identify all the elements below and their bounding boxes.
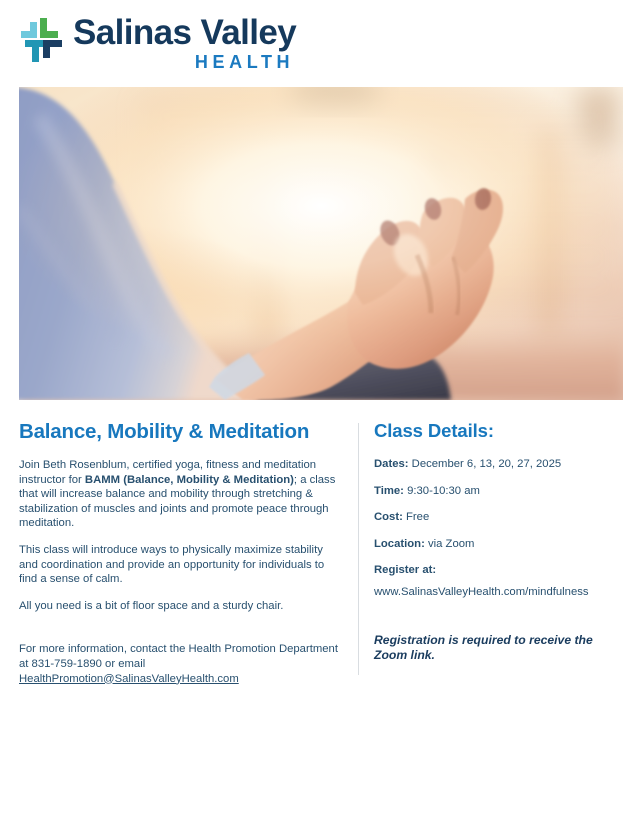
detail-value-dates: December 6, 13, 20, 27, 2025 — [409, 458, 562, 470]
detail-value-time: 9:30-10:30 am — [404, 485, 480, 497]
brand-logo: Salinas Valley HEALTH — [19, 14, 296, 72]
detail-label-register: Register at: — [374, 564, 436, 576]
right-column: Class Details: Dates: December 6, 13, 20… — [374, 420, 624, 663]
detail-row-time: Time: 9:30-10:30 am — [374, 484, 624, 499]
detail-row-dates: Dates: December 6, 13, 20, 27, 2025 — [374, 457, 624, 472]
contact-line-2: at 831-759-1890 or email — [19, 657, 344, 672]
class-details-title: Class Details: — [374, 420, 624, 442]
brand-wordmark: Salinas Valley — [73, 14, 296, 51]
detail-value-location: via Zoom — [425, 538, 475, 550]
detail-label-dates: Dates: — [374, 458, 409, 470]
hero-image — [19, 87, 623, 400]
detail-label-location: Location: — [374, 538, 425, 550]
register-url[interactable]: www.SalinasValleyHealth.com/mindfulness — [374, 585, 624, 600]
salinas-valley-health-cross-logo-icon — [19, 18, 65, 66]
requirements-paragraph: All you need is a bit of floor space and… — [19, 599, 344, 614]
detail-row-cost: Cost: Free — [374, 510, 624, 525]
brand-sub-wordmark: HEALTH — [195, 52, 294, 72]
column-divider — [358, 423, 359, 675]
detail-row-register: Register at: — [374, 563, 624, 578]
page-title: Balance, Mobility & Meditation — [19, 420, 344, 444]
left-column: Balance, Mobility & Meditation Join Beth… — [19, 420, 344, 686]
detail-label-cost: Cost: — [374, 511, 403, 523]
contact-block: For more information, contact the Health… — [19, 642, 344, 686]
bamm-bold-text: BAMM (Balance, Mobility & Meditation) — [85, 474, 294, 486]
class-description-paragraph: This class will introduce ways to physic… — [19, 543, 344, 587]
detail-label-time: Time: — [374, 485, 404, 497]
detail-value-cost: Free — [403, 511, 429, 523]
registration-notice: Registration is required to receive the … — [374, 633, 624, 663]
brand-wordmark-group: Salinas Valley HEALTH — [73, 14, 296, 72]
contact-line-1: For more information, contact the Health… — [19, 642, 344, 657]
intro-paragraph: Join Beth Rosenblum, certified yoga, fit… — [19, 458, 344, 531]
detail-row-location: Location: via Zoom — [374, 537, 624, 552]
contact-email-link[interactable]: HealthPromotion@SalinasValleyHealth.com — [19, 673, 239, 685]
flyer-page: Salinas Valley HEALTH — [0, 0, 643, 831]
